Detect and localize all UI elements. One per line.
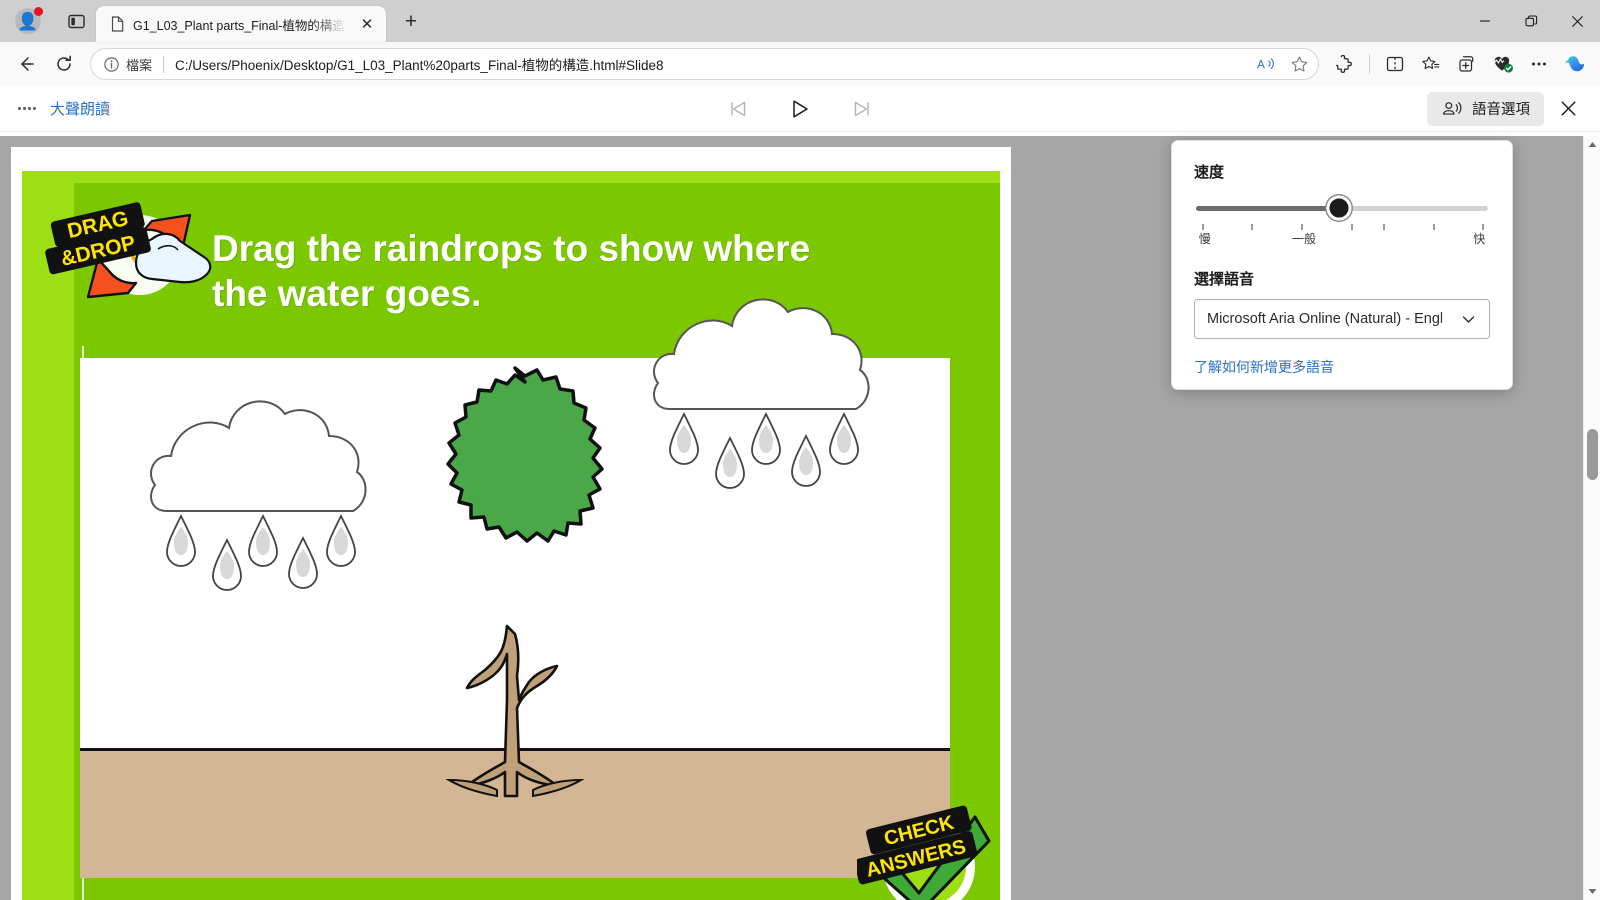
speed-slider-ticks	[1196, 222, 1488, 230]
document-icon	[110, 16, 125, 32]
star-outline-icon	[1290, 55, 1309, 74]
read-aloud-toolbar: 大聲朗讀 語音選項	[0, 86, 1600, 132]
add-favorite-button[interactable]	[1284, 50, 1314, 78]
oak-tree	[385, 358, 645, 813]
slider-fill	[1196, 206, 1339, 211]
favorites-button[interactable]	[1414, 48, 1448, 80]
address-bar[interactable]: 檔案 C:/Users/Phoenix/Desktop/G1_L03_Plant…	[90, 48, 1319, 80]
voice-options-flyout: 速度 慢 一般 快 選擇語音 Microsoft Aria Online (Na…	[1171, 140, 1513, 390]
address-input[interactable]: C:/Users/Phoenix/Desktop/G1_L03_Plant%20…	[175, 54, 1252, 74]
vertical-scrollbar[interactable]	[1583, 136, 1600, 900]
close-read-aloud-button[interactable]	[1550, 91, 1586, 127]
collections-add-icon	[1457, 54, 1477, 74]
restore-icon	[1525, 15, 1538, 28]
speed-tick-labels: 慢 一般 快	[1196, 230, 1488, 248]
browser-essentials-icon	[1492, 54, 1514, 74]
tab-actions-button[interactable]	[56, 4, 96, 38]
voice-select[interactable]: Microsoft Aria Online (Natural) - Engl	[1194, 299, 1490, 339]
html-document-page: Drag the raindrops to show where the wat…	[11, 147, 1011, 900]
play-button[interactable]	[783, 93, 817, 125]
site-info-icon[interactable]	[103, 56, 120, 73]
scroll-up-button[interactable]	[1584, 136, 1600, 153]
tab-strip: G1_L03_Plant parts_Final-植物的構造 ✕ +	[96, 0, 428, 42]
close-window-button[interactable]	[1554, 0, 1600, 42]
play-icon	[788, 97, 812, 121]
settings-and-more-button[interactable]	[1522, 48, 1556, 80]
tab-close-button[interactable]: ✕	[354, 11, 380, 37]
check-answers-badge[interactable]: CHECK ANSWERS	[857, 801, 992, 900]
next-paragraph-icon	[851, 98, 873, 120]
scrollbar-thumb[interactable]	[1587, 429, 1598, 480]
window-controls	[1462, 0, 1600, 42]
previous-paragraph-icon	[727, 98, 749, 120]
read-aloud-right-actions: 語音選項	[1427, 91, 1600, 127]
minimize-button[interactable]	[1462, 0, 1508, 42]
close-icon	[1560, 100, 1577, 117]
collections-button[interactable]	[1450, 48, 1484, 80]
speed-tick-slow: 慢	[1199, 230, 1211, 247]
browser-window: 👤 G1_L03_Plant parts_Final-植物的構造 ✕ +	[0, 0, 1600, 900]
browser-essentials-button[interactable]	[1486, 48, 1520, 80]
voice-options-button[interactable]: 語音選項	[1427, 92, 1544, 126]
profile-status-dot-icon	[34, 7, 43, 16]
address-separator	[163, 56, 164, 73]
speed-tick-fast: 快	[1473, 230, 1485, 247]
extensions-button[interactable]	[1327, 48, 1361, 80]
minimize-icon	[1479, 15, 1491, 27]
read-aloud-title: 大聲朗讀	[50, 98, 110, 119]
tree-foliage-icon	[448, 368, 602, 541]
voice-icon	[1441, 99, 1462, 119]
close-icon	[1571, 15, 1584, 28]
address-bar-actions: A	[1252, 50, 1314, 78]
chevron-down-icon	[1588, 888, 1597, 895]
copilot-icon	[1563, 52, 1587, 76]
previous-paragraph-button[interactable]	[721, 93, 755, 125]
chevron-up-icon	[1588, 141, 1597, 148]
scroll-down-button[interactable]	[1584, 883, 1600, 900]
read-aloud-button[interactable]: A	[1252, 50, 1282, 78]
more-options-icon	[1529, 54, 1549, 74]
svg-text:A: A	[1257, 57, 1265, 71]
slider-thumb[interactable]	[1327, 196, 1352, 221]
maximize-button[interactable]	[1508, 0, 1554, 42]
voice-options-label: 語音選項	[1472, 98, 1530, 119]
avatar: 👤	[15, 8, 41, 34]
address-scheme-label: 檔案	[126, 55, 152, 74]
voice-select-value: Microsoft Aria Online (Natural) - Engl	[1207, 311, 1460, 327]
speed-slider[interactable]	[1196, 198, 1488, 220]
profile-button[interactable]: 👤	[0, 0, 56, 42]
tree-trunk-icon	[449, 626, 581, 796]
more-voices-link[interactable]: 了解如何新增更多語音	[1194, 357, 1490, 377]
cloud-right[interactable]	[648, 276, 883, 491]
back-button[interactable]	[8, 48, 44, 80]
read-aloud-icon: A	[1257, 55, 1277, 74]
new-tab-button[interactable]: +	[394, 5, 428, 39]
speed-label: 速度	[1194, 161, 1490, 182]
activity-canvas	[80, 358, 950, 878]
drag-grip-icon[interactable]	[18, 107, 36, 110]
read-aloud-playback-controls	[721, 93, 879, 125]
extensions-puzzle-icon	[1334, 54, 1354, 74]
next-paragraph-button[interactable]	[845, 93, 879, 125]
split-screen-icon	[1385, 54, 1405, 74]
toolbar-divider	[1369, 54, 1370, 74]
cloud-left[interactable]	[145, 378, 380, 593]
speed-tick-normal: 一般	[1292, 230, 1316, 247]
copilot-button[interactable]	[1558, 48, 1592, 80]
tab-actions-icon	[68, 13, 85, 30]
split-screen-button[interactable]	[1378, 48, 1412, 80]
browser-title-bar: 👤 G1_L03_Plant parts_Final-植物的構造 ✕ +	[0, 0, 1600, 42]
refresh-button[interactable]	[46, 48, 82, 80]
refresh-icon	[54, 54, 74, 74]
browser-toolbar: 檔案 C:/Users/Phoenix/Desktop/G1_L03_Plant…	[0, 42, 1600, 86]
voice-select-label: 選擇語音	[1194, 268, 1490, 289]
tab-title: G1_L03_Plant parts_Final-植物的構造	[133, 15, 346, 34]
slide-8: Drag the raindrops to show where the wat…	[22, 171, 1000, 900]
favorites-list-icon	[1421, 54, 1441, 74]
back-arrow-icon	[16, 54, 36, 74]
chevron-down-icon	[1460, 311, 1477, 328]
browser-tab[interactable]: G1_L03_Plant parts_Final-植物的構造 ✕	[96, 6, 386, 42]
drag-and-drop-badge: DRAG &DROP	[40, 193, 245, 308]
